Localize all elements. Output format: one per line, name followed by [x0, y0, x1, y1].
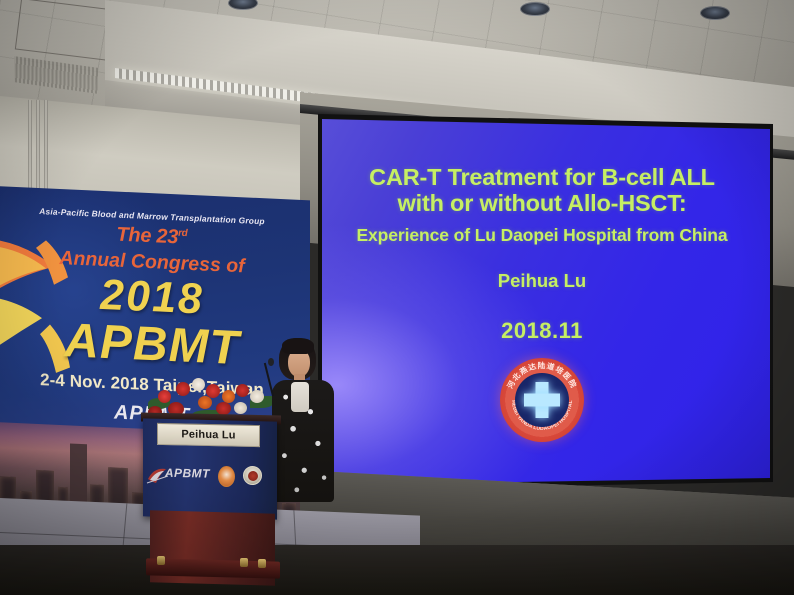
flower-white [192, 378, 205, 391]
medical-cross-icon [524, 394, 560, 407]
emblem-center [248, 471, 258, 481]
podium-nameplate: Peihua Lu [157, 423, 260, 447]
hospital-logo-core [515, 373, 569, 427]
flower-white [250, 390, 264, 403]
slide-title-line2: with or without Allo-HSCT: [309, 190, 775, 217]
podium-orange-oval-logo [218, 466, 235, 487]
podium-brass-fitting [240, 558, 248, 567]
slide-author: Peihua Lu [309, 270, 775, 292]
flower-red [158, 390, 171, 403]
microphone-head [268, 358, 274, 366]
podium-apbmt-logo: APBMT [148, 465, 210, 486]
flower-orange [198, 396, 212, 409]
flower-red [216, 402, 231, 415]
flower-red [176, 382, 190, 396]
podium-taiwan-emblem-logo [243, 466, 262, 485]
podium-brass-fitting [157, 556, 165, 565]
flower-red [236, 384, 249, 397]
slide-title-line1: CAR-T Treatment for B-cell ALL [309, 164, 775, 191]
speaker-hair-front [282, 338, 314, 354]
projection-screen: CAR-T Treatment for B-cell ALL with or w… [309, 110, 775, 492]
banner-edition-sup: rd [178, 228, 187, 239]
conference-photo-scene: Asia-Pacific Blood and Marrow Transplant… [0, 0, 794, 595]
slide-subtitle: Experience of Lu Daopei Hospital from Ch… [309, 225, 775, 246]
speaker-blouse [291, 382, 309, 412]
foreground-floor [0, 545, 794, 595]
spotlight-icon [520, 2, 550, 16]
slide-content: CAR-T Treatment for B-cell ALL with or w… [309, 110, 775, 492]
slide-date: 2018.11 [309, 318, 775, 344]
podium-nameplate-label: Peihua Lu [181, 428, 235, 441]
podium-brass-fitting [258, 559, 266, 568]
spotlight-icon [700, 6, 730, 20]
banner-edition-prefix: The 23 [117, 224, 179, 249]
skyline-tower [70, 443, 87, 506]
flower-white [234, 402, 247, 414]
hospital-logo: 河北燕达陆道培医院 HEBEI YANDA LUDAOPEI HOSPITAL [500, 358, 584, 442]
